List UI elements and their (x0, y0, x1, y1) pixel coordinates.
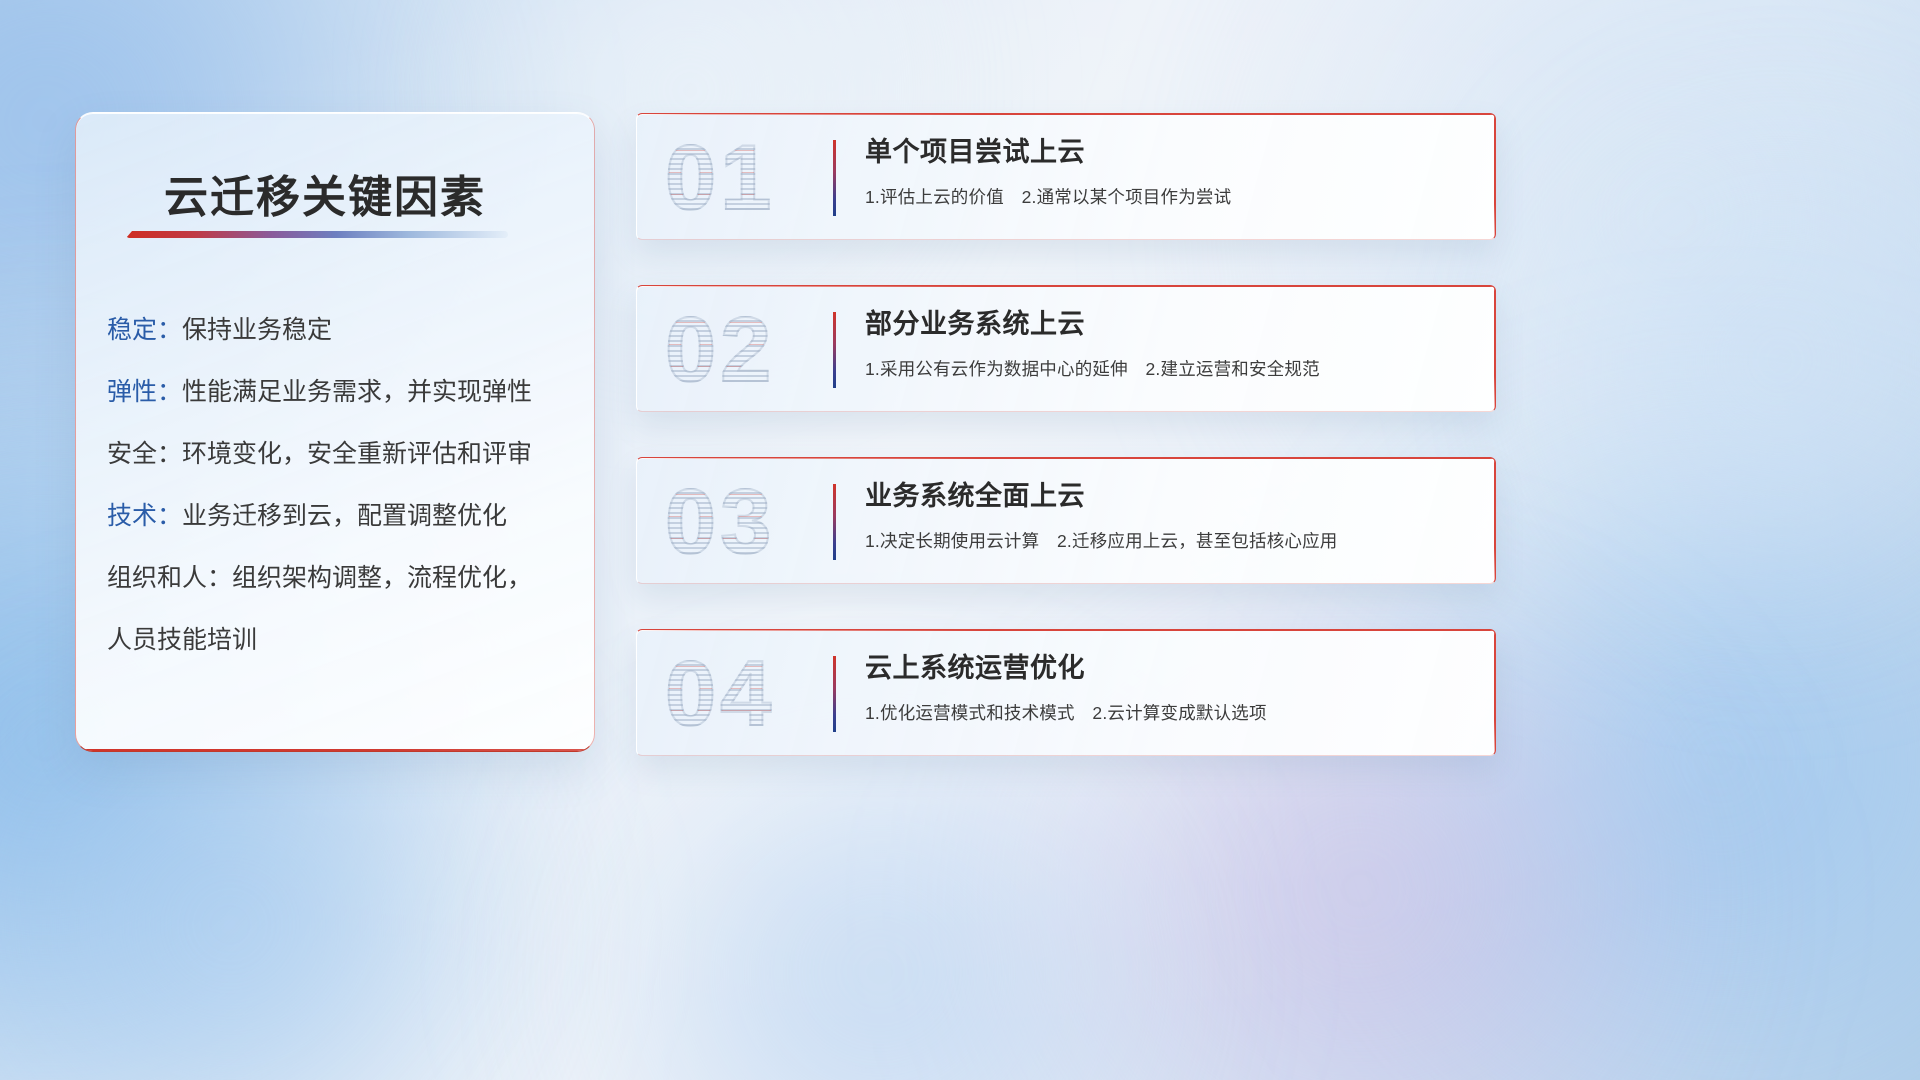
factor-row: 安全：环境变化，安全重新评估和评审 (107, 442, 574, 467)
card-accent-divider (833, 140, 836, 216)
card-accent-divider (833, 656, 836, 732)
stage-card[interactable]: 0404云上系统运营优化1.优化运营模式和技术模式 2.云计算变成默认选项 (636, 629, 1496, 756)
card-accent-divider (833, 484, 836, 560)
card-body: 云上系统运营优化1.优化运营模式和技术模式 2.云计算变成默认选项 (865, 652, 1471, 725)
stage-number: 03 (665, 472, 825, 572)
factor-label: 安全： (107, 440, 182, 468)
factor-text: 保持业务稳定 (182, 316, 332, 344)
card-accent-divider (833, 312, 836, 388)
factor-label: 弹性： (107, 378, 182, 406)
stage-card[interactable]: 0202部分业务系统上云1.采用公有云作为数据中心的延伸 2.建立运营和安全规范 (636, 285, 1496, 412)
stage-number: 01 (665, 128, 825, 228)
factor-row: 技术：业务迁移到云，配置调整优化 (107, 504, 574, 529)
card-subtitle: 1.决定长期使用云计算 2.迁移应用上云，甚至包括核心应用 (865, 528, 1471, 553)
factor-row: 弹性：性能满足业务需求，并实现弹性 (107, 380, 574, 405)
factor-text: 组织架构调整，流程优化， (232, 564, 532, 592)
factor-text: 业务迁移到云，配置调整优化 (182, 502, 507, 530)
factor-label: 稳定： (107, 316, 182, 344)
card-title: 业务系统全面上云 (865, 480, 1471, 514)
stage-card-list: 0101单个项目尝试上云1.评估上云的价值 2.通常以某个项目作为尝试0202部… (636, 113, 1496, 756)
title-underline-rule (126, 231, 508, 238)
key-factors-panel: 云迁移关键因素 稳定：保持业务稳定弹性：性能满足业务需求，并实现弹性安全：环境变… (75, 112, 595, 752)
card-body: 业务系统全面上云1.决定长期使用云计算 2.迁移应用上云，甚至包括核心应用 (865, 480, 1471, 553)
stage-card[interactable]: 0303业务系统全面上云1.决定长期使用云计算 2.迁移应用上云，甚至包括核心应… (636, 457, 1496, 584)
slide-canvas: 云迁移关键因素 稳定：保持业务稳定弹性：性能满足业务需求，并实现弹性安全：环境变… (0, 0, 1920, 1080)
factor-row: 稳定：保持业务稳定 (107, 318, 574, 343)
factor-text: 环境变化，安全重新评估和评审 (182, 440, 532, 468)
stage-number: 02 (665, 300, 825, 400)
factor-row: 组织和人：组织架构调整，流程优化， (107, 566, 574, 591)
stage-number: 04 (665, 644, 825, 744)
factor-list: 稳定：保持业务稳定弹性：性能满足业务需求，并实现弹性安全：环境变化，安全重新评估… (107, 318, 574, 653)
card-title: 单个项目尝试上云 (865, 136, 1471, 170)
factor-row: 人员技能培训 (107, 628, 574, 653)
card-body: 部分业务系统上云1.采用公有云作为数据中心的延伸 2.建立运营和安全规范 (865, 308, 1471, 381)
card-subtitle: 1.采用公有云作为数据中心的延伸 2.建立运营和安全规范 (865, 356, 1471, 381)
card-subtitle: 1.优化运营模式和技术模式 2.云计算变成默认选项 (865, 700, 1471, 725)
card-body: 单个项目尝试上云1.评估上云的价值 2.通常以某个项目作为尝试 (865, 136, 1471, 209)
stage-card[interactable]: 0101单个项目尝试上云1.评估上云的价值 2.通常以某个项目作为尝试 (636, 113, 1496, 240)
card-title: 部分业务系统上云 (865, 308, 1471, 342)
card-subtitle: 1.评估上云的价值 2.通常以某个项目作为尝试 (865, 184, 1471, 209)
factor-label: 组织和人： (107, 564, 232, 592)
panel-title: 云迁移关键因素 (164, 161, 486, 225)
factor-text: 性能满足业务需求，并实现弹性 (182, 378, 532, 406)
card-title: 云上系统运营优化 (865, 652, 1471, 686)
factor-text: 人员技能培训 (107, 626, 257, 654)
factor-label: 技术： (107, 502, 182, 530)
